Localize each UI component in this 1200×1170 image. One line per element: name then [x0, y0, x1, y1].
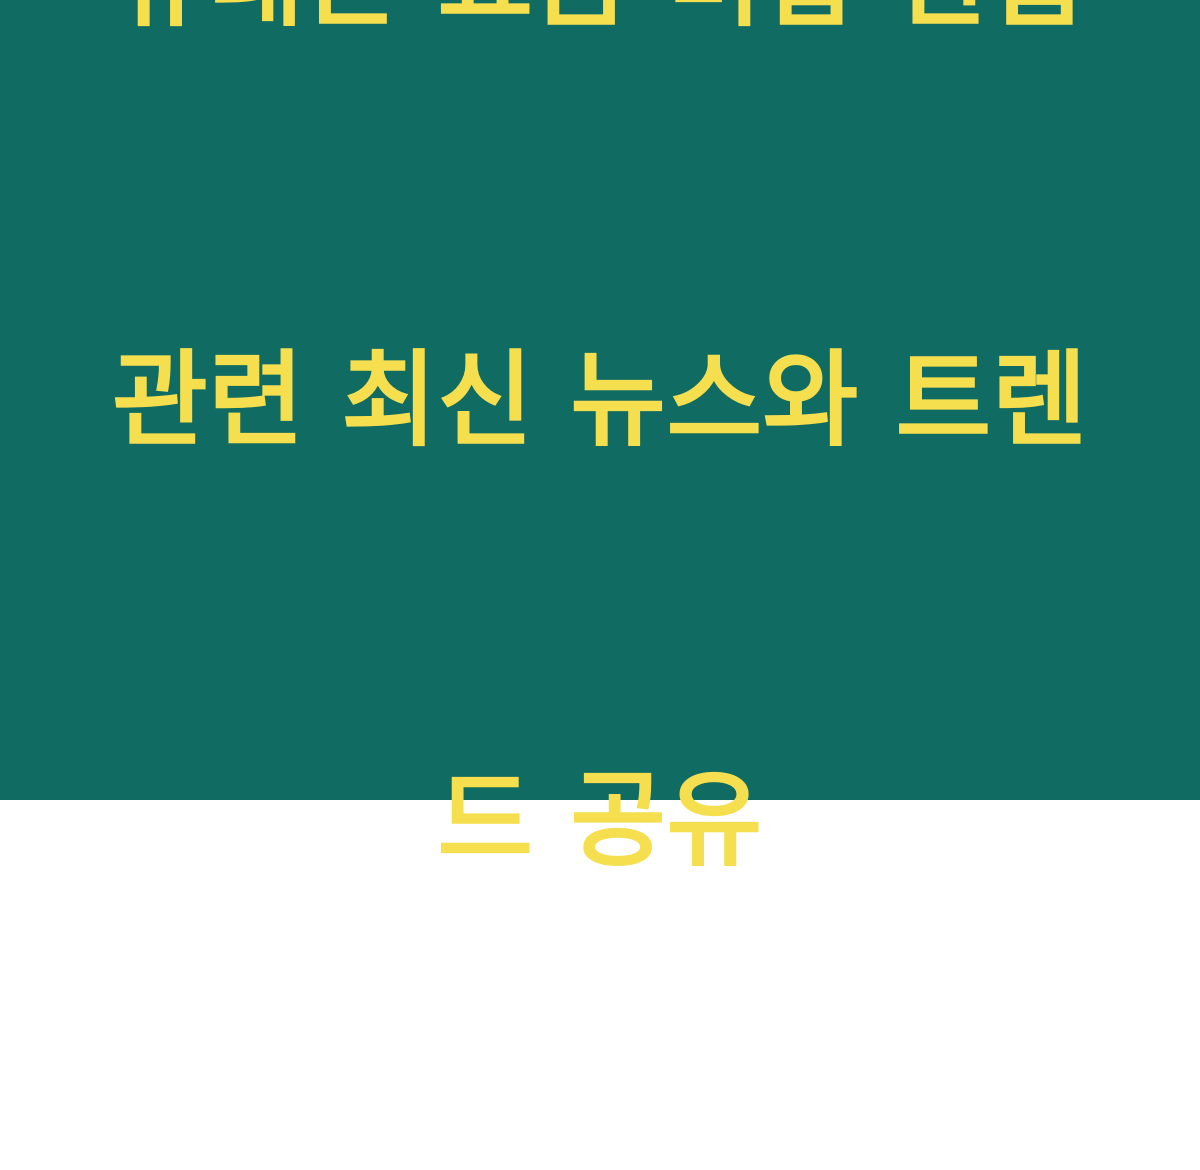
headline-line-2: 관련 최신 뉴스와 트렌 — [95, 330, 1105, 470]
headline-line-3: 드 공유 — [95, 750, 1105, 890]
text-banner: 휴대폰 요금 미납 환급 관련 최신 뉴스와 트렌 드 공유 — [0, 0, 1200, 800]
page-title: 휴대폰 요금 미납 환급 관련 최신 뉴스와 트렌 드 공유 — [95, 0, 1105, 1170]
headline-block: 휴대폰 요금 미납 환급 관련 최신 뉴스와 트렌 드 공유 — [95, 0, 1105, 1170]
headline-line-1: 휴대폰 요금 미납 환급 — [95, 0, 1105, 50]
